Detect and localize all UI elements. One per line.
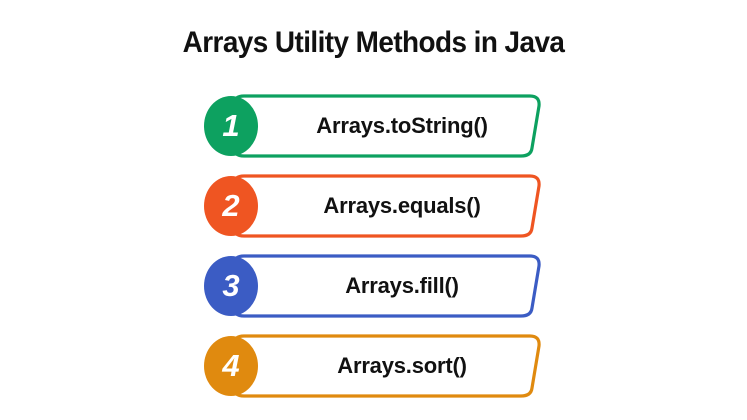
list-item[interactable]: 4 Arrays.sort() bbox=[200, 332, 560, 400]
page-title: Arrays Utility Methods in Java bbox=[26, 26, 721, 60]
badge-number-1: 1 bbox=[222, 110, 239, 141]
numbered-circle-badge-3: 3 bbox=[204, 256, 258, 316]
infographic-container: Arrays Utility Methods in Java 1 Arrays.… bbox=[0, 0, 747, 420]
badge-number-4: 4 bbox=[222, 350, 239, 381]
badge-number-2: 2 bbox=[222, 190, 239, 221]
list-item[interactable]: 2 Arrays.equals() bbox=[200, 172, 560, 240]
list-item[interactable]: 1 Arrays.toString() bbox=[200, 92, 560, 160]
numbered-circle-badge-1: 1 bbox=[204, 96, 258, 156]
badge-number-3: 3 bbox=[222, 270, 239, 301]
numbered-circle-badge-2: 2 bbox=[204, 176, 258, 236]
list-item[interactable]: 3 Arrays.fill() bbox=[200, 252, 560, 320]
numbered-circle-badge-4: 4 bbox=[204, 336, 258, 396]
